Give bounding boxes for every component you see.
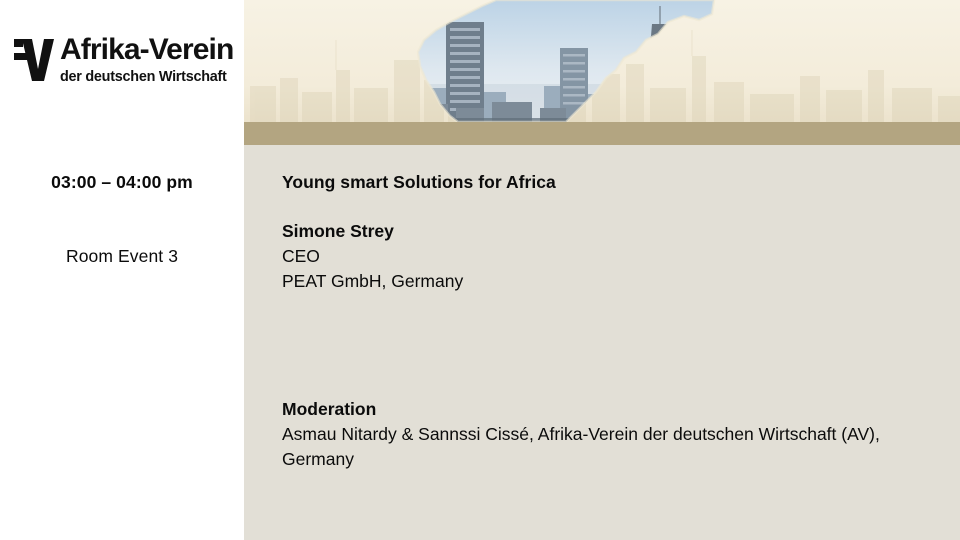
moderation-label: Moderation bbox=[282, 397, 946, 422]
session-time: 03:00 – 04:00 pm bbox=[0, 172, 244, 193]
afrika-verein-logo: Afrika-Verein der deutschen Wirtschaft bbox=[14, 33, 230, 97]
speaker-entry: Simone Strey CEO PEAT GmbH, Germany bbox=[282, 219, 946, 294]
left-column: Afrika-Verein der deutschen Wirtschaft 0… bbox=[0, 0, 244, 540]
speaker-name: Simone Strey bbox=[282, 219, 946, 244]
moderation-entry: Moderation Asmau Nitardy & Sannssi Cissé… bbox=[282, 397, 946, 472]
session-content: Young smart Solutions for Africa Simone … bbox=[282, 145, 946, 472]
logo-name: Afrika-Verein bbox=[60, 33, 232, 67]
speaker-organization: PEAT GmbH, Germany bbox=[282, 269, 946, 294]
moderation-people: Asmau Nitardy & Sannssi Cissé, Afrika-Ve… bbox=[282, 422, 934, 472]
logo-subtitle: der deutschen Wirtschaft bbox=[60, 68, 232, 86]
logo-wordmark: Afrika-Verein der deutschen Wirtschaft bbox=[60, 33, 232, 86]
accent-band bbox=[244, 122, 960, 145]
av-monogram-icon bbox=[14, 35, 56, 83]
city-skyline-banner bbox=[244, 0, 960, 122]
session-title: Young smart Solutions for Africa bbox=[282, 172, 946, 193]
speaker-role: CEO bbox=[282, 244, 946, 269]
session-room: Room Event 3 bbox=[0, 246, 244, 267]
right-panel: Young smart Solutions for Africa Simone … bbox=[244, 0, 960, 540]
slide-canvas: Afrika-Verein der deutschen Wirtschaft 0… bbox=[0, 0, 960, 540]
